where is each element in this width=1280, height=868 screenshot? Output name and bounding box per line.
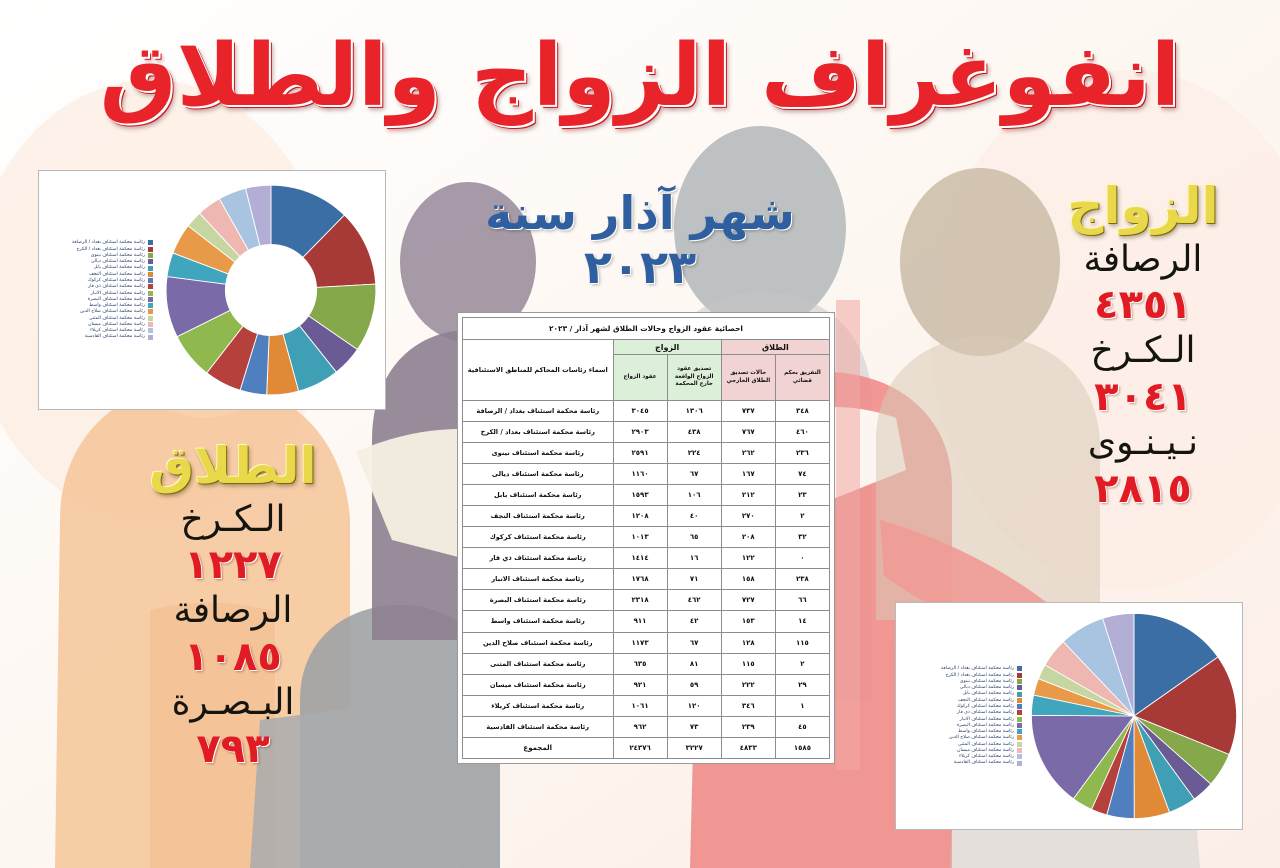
- divorce-label-2: البـصـرة: [118, 681, 348, 725]
- legend-swatch-14: [148, 328, 153, 333]
- legend-item: رئاسة محكمة استئناف بغداد / الكرخ: [898, 673, 1022, 678]
- legend-item: رئاسة محكمة استئناف بغداد / الرصافة: [898, 666, 1022, 671]
- marriage-stats-block: الزواج الرصافة ٤٣٥١ الـكـرخ ٣٠٤١ نـيـنـو…: [1028, 178, 1258, 513]
- cell-marriage-contracts-14: ١٠٦١: [613, 695, 667, 716]
- marriage-value-0: ٤٣٥١: [1028, 281, 1258, 329]
- divorce-value-1: ١٠٨٥: [118, 633, 348, 681]
- legend-label-14: رئاسة محكمة استئناف كربلاء: [959, 754, 1014, 759]
- legend-swatch-3: [148, 259, 153, 264]
- legend-item: رئاسة محكمة استئناف البصرة: [41, 297, 153, 302]
- legend-label-15: رئاسة محكمة استئناف القادسية: [954, 760, 1014, 765]
- legend-label-12: رئاسة محكمة استئناف المثنى: [958, 742, 1014, 747]
- column-header-court-name: اسماء رئاسات المحاكم للمناطق الاستئنافية: [463, 340, 614, 401]
- legend-swatch-2: [148, 253, 153, 258]
- cell-court-name-12: رئاسة محكمة استئناف المثنى: [463, 653, 614, 674]
- legend-swatch-9: [1017, 723, 1022, 728]
- total-divorce-judicial: ١٥٨٥: [775, 737, 829, 758]
- marriage-value-1: ٣٠٤١: [1028, 373, 1258, 421]
- legend-item: رئاسة محكمة استئناف صلاح الدين: [898, 735, 1022, 740]
- cell-divorce-external-10: ١٥٣: [721, 611, 775, 632]
- cell-marriage-outside-6: ٦٥: [667, 527, 721, 548]
- legend-item: رئاسة محكمة استئناف ميسان: [898, 748, 1022, 753]
- legend-item: رئاسة محكمة استئناف الانبار: [898, 717, 1022, 722]
- legend-label-6: رئاسة محكمة استئناف كركوك: [957, 704, 1014, 709]
- legend-label-5: رئاسة محكمة استئناف النجف: [89, 272, 145, 277]
- pie-chart-svg: [1026, 608, 1242, 824]
- legend-swatch-4: [1017, 692, 1022, 697]
- legend-swatch-5: [1017, 698, 1022, 703]
- table-row: ٧٤١٦٧٦٧١١٦٠رئاسة محكمة استئناف ديالى: [463, 464, 830, 485]
- total-divorce-external: ٤٨٣٣: [721, 737, 775, 758]
- table-row: ٢٣٢١٢١٠٦١٥٩٣رئاسة محكمة استئناف بابل: [463, 485, 830, 506]
- total-label: المجموع: [463, 737, 614, 758]
- divorce-label-1: الرصافة: [118, 589, 348, 633]
- cell-court-name-11: رئاسة محكمة استئناف صلاح الدين: [463, 632, 614, 653]
- pie-chart-art: [1026, 608, 1242, 824]
- legend-item: رئاسة محكمة استئناف النجف: [41, 272, 153, 277]
- table-title: احصائية عقود الزواج وحالات الطلاق لشهر آ…: [463, 318, 830, 340]
- legend-label-10: رئاسة محكمة استئناف واسط: [958, 729, 1014, 734]
- legend-label-5: رئاسة محكمة استئناف النجف: [958, 698, 1014, 703]
- cell-court-name-13: رئاسة محكمة استئناف ميسان: [463, 674, 614, 695]
- legend-item: رئاسة محكمة استئناف البصرة: [898, 723, 1022, 728]
- cell-marriage-outside-11: ٦٧: [667, 632, 721, 653]
- column-header-marriage-outside: تصديق عقود الزواج الواقعة خارج المحكمة: [667, 355, 721, 401]
- cell-divorce-judicial-5: ٢: [775, 506, 829, 527]
- table-row: ٤٥٢٣٩٧٣٩٦٢رئاسة محكمة استئناف القادسية: [463, 716, 830, 737]
- cell-divorce-judicial-7: ٠: [775, 548, 829, 569]
- legend-swatch-7: [148, 284, 153, 289]
- total-marriage-contracts: ٢٤٣٧٦: [613, 737, 667, 758]
- pie-chart-legend: رئاسة محكمة استئناف بغداد / الرصافةرئاسة…: [896, 603, 1026, 829]
- legend-item: رئاسة محكمة استئناف كركوك: [898, 704, 1022, 709]
- legend-swatch-0: [148, 240, 153, 245]
- legend-item: رئاسة محكمة استئناف كربلاء: [41, 328, 153, 333]
- legend-label-7: رئاسة محكمة استئناف ذي قار: [88, 284, 145, 289]
- cell-divorce-judicial-9: ٦٦: [775, 590, 829, 611]
- legend-label-8: رئاسة محكمة استئناف الانبار: [960, 717, 1014, 722]
- divorce-entry-2: البـصـرة ٧٩٣: [118, 681, 348, 773]
- divorce-value-2: ٧٩٣: [118, 725, 348, 773]
- infographic-poster: انفوغراف الزواج والطلاق شهر آذار سنة ٢٠٢…: [0, 0, 1280, 868]
- cell-marriage-contracts-12: ٦٣٥: [613, 653, 667, 674]
- legend-swatch-4: [148, 266, 153, 271]
- legend-label-14: رئاسة محكمة استئناف كربلاء: [90, 328, 145, 333]
- cell-divorce-external-4: ٢١٢: [721, 485, 775, 506]
- table-row: ٢٢٧٠٤٠١٢٠٨رئاسة محكمة استئناف النجف: [463, 506, 830, 527]
- legend-item: رئاسة محكمة استئناف النجف: [898, 698, 1022, 703]
- legend-label-7: رئاسة محكمة استئناف ذي قار: [957, 710, 1014, 715]
- legend-swatch-10: [148, 303, 153, 308]
- cell-court-name-15: رئاسة محكمة استئناف القادسية: [463, 716, 614, 737]
- divorce-heading: الطلاق: [118, 438, 348, 496]
- cell-marriage-contracts-10: ٩١١: [613, 611, 667, 632]
- cell-divorce-external-8: ١٥٨: [721, 569, 775, 590]
- cell-marriage-outside-10: ٤٢: [667, 611, 721, 632]
- cell-divorce-judicial-15: ٤٥: [775, 716, 829, 737]
- legend-label-2: رئاسة محكمة استئناف نينوى: [960, 679, 1014, 684]
- table-row: ١٤١٥٣٤٢٩١١رئاسة محكمة استئناف واسط: [463, 611, 830, 632]
- legend-swatch-2: [1017, 679, 1022, 684]
- legend-swatch-10: [1017, 729, 1022, 734]
- cell-divorce-external-0: ٧٣٧: [721, 401, 775, 422]
- legend-item: رئاسة محكمة استئناف بغداد / الرصافة: [41, 240, 153, 245]
- cell-court-name-9: رئاسة محكمة استئناف البصرة: [463, 590, 614, 611]
- table-head: احصائية عقود الزواج وحالات الطلاق لشهر آ…: [463, 318, 830, 401]
- legend-swatch-12: [148, 316, 153, 321]
- legend-item: رئاسة محكمة استئناف ذي قار: [41, 284, 153, 289]
- cell-marriage-contracts-6: ١٠١٣: [613, 527, 667, 548]
- table-row: ١١٥١٢٨٦٧١١٧٣رئاسة محكمة استئناف صلاح الد…: [463, 632, 830, 653]
- legend-label-9: رئاسة محكمة استئناف البصرة: [957, 723, 1014, 728]
- marriage-entry-2: نـيـنـوى ٢٨١٥: [1028, 421, 1258, 513]
- divorce-stats-block: الطلاق الـكـرخ ١٢٢٧ الرصافة ١٠٨٥ البـصـر…: [118, 438, 348, 773]
- table-body: ٣٤٨٧٣٧١٣٠٦٣٠٤٥رئاسة محكمة استئناف بغداد …: [463, 401, 830, 759]
- legend-label-8: رئاسة محكمة استئناف الانبار: [91, 291, 145, 296]
- legend-swatch-3: [1017, 685, 1022, 690]
- legend-swatch-6: [148, 278, 153, 283]
- cell-divorce-external-5: ٢٧٠: [721, 506, 775, 527]
- legend-swatch-5: [148, 272, 153, 277]
- cell-marriage-outside-15: ٧٣: [667, 716, 721, 737]
- cell-divorce-external-2: ٢٦٢: [721, 443, 775, 464]
- cell-court-name-2: رئاسة محكمة استئناف نينوى: [463, 443, 614, 464]
- cell-divorce-judicial-13: ٢٩: [775, 674, 829, 695]
- cell-court-name-4: رئاسة محكمة استئناف بابل: [463, 485, 614, 506]
- table-row: ٠١٢٢١٦١٤١٤رئاسة محكمة استئناف ذي قار: [463, 548, 830, 569]
- legend-item: رئاسة محكمة استئناف بابل: [41, 265, 153, 270]
- table-row: ٢٩٢٢٢٥٩٩٢١رئاسة محكمة استئناف ميسان: [463, 674, 830, 695]
- legend-label-13: رئاسة محكمة استئناف ميسان: [957, 748, 1014, 753]
- cell-divorce-judicial-14: ١: [775, 695, 829, 716]
- cell-marriage-outside-9: ٤٦٢: [667, 590, 721, 611]
- legend-item: رئاسة محكمة استئناف ميسان: [41, 322, 153, 327]
- cell-divorce-judicial-12: ٢: [775, 653, 829, 674]
- divorce-entry-0: الـكـرخ ١٢٢٧: [118, 498, 348, 590]
- cell-divorce-external-11: ١٢٨: [721, 632, 775, 653]
- legend-label-6: رئاسة محكمة استئناف كركوك: [88, 278, 145, 283]
- cell-divorce-external-7: ١٢٢: [721, 548, 775, 569]
- legend-swatch-0: [1017, 666, 1022, 671]
- divorce-entry-1: الرصافة ١٠٨٥: [118, 589, 348, 681]
- cell-divorce-external-14: ٣٤٦: [721, 695, 775, 716]
- cell-marriage-contracts-2: ٢٥٩١: [613, 443, 667, 464]
- legend-item: رئاسة محكمة استئناف كركوك: [41, 278, 153, 283]
- cell-divorce-external-15: ٢٣٩: [721, 716, 775, 737]
- legend-label-9: رئاسة محكمة استئناف البصرة: [88, 297, 145, 302]
- marriage-heading: الزواج: [1028, 178, 1258, 236]
- cell-marriage-contracts-11: ١١٧٣: [613, 632, 667, 653]
- statistics-table: احصائية عقود الزواج وحالات الطلاق لشهر آ…: [462, 317, 830, 759]
- legend-item: رئاسة محكمة استئناف القادسية: [41, 334, 153, 339]
- legend-item: رئاسة محكمة استئناف ديالى: [898, 685, 1022, 690]
- table-row: ٣٢٢٠٨٦٥١٠١٣رئاسة محكمة استئناف كركوك: [463, 527, 830, 548]
- legend-label-0: رئاسة محكمة استئناف بغداد / الرصافة: [72, 240, 145, 245]
- legend-swatch-11: [148, 309, 153, 314]
- statistics-table-container: احصائية عقود الزواج وحالات الطلاق لشهر آ…: [457, 312, 835, 764]
- legend-item: رئاسة محكمة استئناف ذي قار: [898, 710, 1022, 715]
- table-row: ٢١١٥٨١٦٣٥رئاسة محكمة استئناف المثنى: [463, 653, 830, 674]
- legend-swatch-7: [1017, 710, 1022, 715]
- cell-divorce-external-13: ٢٢٢: [721, 674, 775, 695]
- cell-marriage-outside-0: ١٣٠٦: [667, 401, 721, 422]
- cell-divorce-external-12: ١١٥: [721, 653, 775, 674]
- cell-marriage-outside-2: ٢٢٤: [667, 443, 721, 464]
- legend-item: رئاسة محكمة استئناف صلاح الدين: [41, 309, 153, 314]
- table-row: ٢٣٨١٥٨٧١١٧٦٨رئاسة محكمة استئناف الانبار: [463, 569, 830, 590]
- donut-chart-legend: رئاسة محكمة استئناف بغداد / الرصافةرئاسة…: [39, 171, 157, 409]
- cell-court-name-0: رئاسة محكمة استئناف بغداد / الرصافة: [463, 401, 614, 422]
- legend-swatch-1: [1017, 673, 1022, 678]
- table-row: ٦٦٧٢٧٤٦٢٢٣١٨رئاسة محكمة استئناف البصرة: [463, 590, 830, 611]
- table-row: ٣٤٨٧٣٧١٣٠٦٣٠٤٥رئاسة محكمة استئناف بغداد …: [463, 401, 830, 422]
- cell-court-name-7: رئاسة محكمة استئناف ذي قار: [463, 548, 614, 569]
- column-header-marriage-contracts: عقود الزواج: [613, 355, 667, 401]
- cell-marriage-contracts-9: ٢٣١٨: [613, 590, 667, 611]
- cell-marriage-contracts-5: ١٢٠٨: [613, 506, 667, 527]
- legend-label-11: رئاسة محكمة استئناف صلاح الدين: [949, 735, 1014, 740]
- cell-divorce-external-9: ٧٢٧: [721, 590, 775, 611]
- legend-item: رئاسة محكمة استئناف بغداد / الكرخ: [41, 247, 153, 252]
- legend-item: رئاسة محكمة استئناف الانبار: [41, 291, 153, 296]
- group-header-divorce: الطلاق: [721, 340, 829, 355]
- legend-item: رئاسة محكمة استئناف كربلاء: [898, 754, 1022, 759]
- legend-swatch-13: [148, 322, 153, 327]
- divorce-label-0: الـكـرخ: [118, 498, 348, 542]
- cell-court-name-6: رئاسة محكمة استئناف كركوك: [463, 527, 614, 548]
- legend-swatch-14: [1017, 754, 1022, 759]
- legend-item: رئاسة محكمة استئناف ديالى: [41, 259, 153, 264]
- column-header-divorce-judicial: التفريق بحكم قضائي: [775, 355, 829, 401]
- legend-label-4: رئاسة محكمة استئناف بابل: [93, 265, 145, 270]
- legend-item: رئاسة محكمة استئناف واسط: [898, 729, 1022, 734]
- legend-label-15: رئاسة محكمة استئناف القادسية: [85, 334, 145, 339]
- cell-marriage-contracts-13: ٩٢١: [613, 674, 667, 695]
- cell-divorce-judicial-1: ٤٦٠: [775, 422, 829, 443]
- cell-divorce-external-1: ٧٦٧: [721, 422, 775, 443]
- legend-swatch-9: [148, 297, 153, 302]
- legend-item: رئاسة محكمة استئناف واسط: [41, 303, 153, 308]
- cell-divorce-judicial-4: ٢٣: [775, 485, 829, 506]
- cell-court-name-5: رئاسة محكمة استئناف النجف: [463, 506, 614, 527]
- column-header-divorce-external: حالات تصديق الطلاق الخارجي: [721, 355, 775, 401]
- cell-marriage-outside-4: ١٠٦: [667, 485, 721, 506]
- table-row: ٢٣٦٢٦٢٢٢٤٢٥٩١رئاسة محكمة استئناف نينوى: [463, 443, 830, 464]
- donut-chart-panel: رئاسة محكمة استئناف بغداد / الرصافةرئاسة…: [38, 170, 386, 410]
- cell-marriage-outside-14: ١٢٠: [667, 695, 721, 716]
- legend-label-0: رئاسة محكمة استئناف بغداد / الرصافة: [941, 666, 1014, 671]
- cell-divorce-external-3: ١٦٧: [721, 464, 775, 485]
- cell-marriage-contracts-3: ١١٦٠: [613, 464, 667, 485]
- cell-marriage-outside-12: ٨١: [667, 653, 721, 674]
- marriage-entry-0: الرصافة ٤٣٥١: [1028, 238, 1258, 330]
- cell-divorce-judicial-11: ١١٥: [775, 632, 829, 653]
- legend-item: رئاسة محكمة استئناف القادسية: [898, 760, 1022, 765]
- cell-marriage-contracts-4: ١٥٩٣: [613, 485, 667, 506]
- divorce-value-0: ١٢٢٧: [118, 541, 348, 589]
- legend-swatch-8: [1017, 717, 1022, 722]
- legend-label-13: رئاسة محكمة استئناف ميسان: [88, 322, 145, 327]
- group-header-marriage: الزواج: [613, 340, 721, 355]
- cell-marriage-contracts-8: ١٧٦٨: [613, 569, 667, 590]
- legend-swatch-12: [1017, 742, 1022, 747]
- cell-court-name-8: رئاسة محكمة استئناف الانبار: [463, 569, 614, 590]
- legend-label-11: رئاسة محكمة استئناف صلاح الدين: [80, 309, 145, 314]
- legend-label-10: رئاسة محكمة استئناف واسط: [89, 303, 145, 308]
- donut-chart-art: [157, 176, 385, 404]
- legend-swatch-15: [148, 335, 153, 340]
- cell-divorce-judicial-2: ٢٣٦: [775, 443, 829, 464]
- cell-marriage-outside-5: ٤٠: [667, 506, 721, 527]
- legend-swatch-11: [1017, 735, 1022, 740]
- legend-swatch-13: [1017, 748, 1022, 753]
- legend-label-2: رئاسة محكمة استئناف نينوى: [91, 253, 145, 258]
- legend-label-12: رئاسة محكمة استئناف المثنى: [89, 316, 145, 321]
- legend-item: رئاسة محكمة استئناف بابل: [898, 691, 1022, 696]
- page-subtitle: شهر آذار سنة ٢٠٢٣: [430, 186, 850, 294]
- cell-divorce-judicial-8: ٢٣٨: [775, 569, 829, 590]
- cell-court-name-10: رئاسة محكمة استئناف واسط: [463, 611, 614, 632]
- total-marriage-outside: ٣٢٢٧: [667, 737, 721, 758]
- table-group-header-row: الطلاق الزواج اسماء رئاسات المحاكم للمنا…: [463, 340, 830, 355]
- cell-marriage-contracts-7: ١٤١٤: [613, 548, 667, 569]
- cell-marriage-outside-7: ١٦: [667, 548, 721, 569]
- page-title: انفوغراف الزواج والطلاق: [0, 28, 1280, 124]
- title-container: انفوغراف الزواج والطلاق: [0, 28, 1280, 124]
- marriage-entry-1: الـكـرخ ٣٠٤١: [1028, 329, 1258, 421]
- legend-item: رئاسة محكمة استئناف المثنى: [898, 742, 1022, 747]
- cell-marriage-contracts-1: ٢٩٠٣: [613, 422, 667, 443]
- table-total-row: ١٥٨٥٤٨٣٣٣٢٢٧٢٤٣٧٦المجموع: [463, 737, 830, 758]
- legend-label-4: رئاسة محكمة استئناف بابل: [962, 691, 1014, 696]
- legend-swatch-8: [148, 291, 153, 296]
- cell-divorce-judicial-6: ٣٢: [775, 527, 829, 548]
- table-title-row: احصائية عقود الزواج وحالات الطلاق لشهر آ…: [463, 318, 830, 340]
- marriage-label-0: الرصافة: [1028, 238, 1258, 282]
- cell-marriage-contracts-15: ٩٦٢: [613, 716, 667, 737]
- cell-divorce-judicial-0: ٣٤٨: [775, 401, 829, 422]
- cell-marriage-outside-1: ٤٣٨: [667, 422, 721, 443]
- pie-chart-panel: رئاسة محكمة استئناف بغداد / الرصافةرئاسة…: [895, 602, 1243, 830]
- legend-swatch-1: [148, 247, 153, 252]
- legend-label-3: رئاسة محكمة استئناف ديالى: [960, 685, 1014, 690]
- donut-chart-svg: [157, 176, 385, 404]
- marriage-label-2: نـيـنـوى: [1028, 421, 1258, 465]
- legend-swatch-6: [1017, 704, 1022, 709]
- cell-divorce-judicial-10: ١٤: [775, 611, 829, 632]
- legend-item: رئاسة محكمة استئناف المثنى: [41, 316, 153, 321]
- legend-label-1: رئاسة محكمة استئناف بغداد / الكرخ: [945, 673, 1014, 678]
- legend-item: رئاسة محكمة استئناف نينوى: [898, 679, 1022, 684]
- legend-label-1: رئاسة محكمة استئناف بغداد / الكرخ: [76, 247, 145, 252]
- cell-divorce-external-6: ٢٠٨: [721, 527, 775, 548]
- cell-marriage-outside-13: ٥٩: [667, 674, 721, 695]
- marriage-label-1: الـكـرخ: [1028, 329, 1258, 373]
- marriage-value-2: ٢٨١٥: [1028, 465, 1258, 513]
- table-row: ٤٦٠٧٦٧٤٣٨٢٩٠٣رئاسة محكمة استئناف بغداد /…: [463, 422, 830, 443]
- legend-item: رئاسة محكمة استئناف نينوى: [41, 253, 153, 258]
- cell-court-name-14: رئاسة محكمة استئناف كربلاء: [463, 695, 614, 716]
- cell-divorce-judicial-3: ٧٤: [775, 464, 829, 485]
- cell-court-name-3: رئاسة محكمة استئناف ديالى: [463, 464, 614, 485]
- cell-marriage-outside-3: ٦٧: [667, 464, 721, 485]
- legend-label-3: رئاسة محكمة استئناف ديالى: [91, 259, 145, 264]
- cell-marriage-contracts-0: ٣٠٤٥: [613, 401, 667, 422]
- legend-swatch-15: [1017, 761, 1022, 766]
- table-row: ١٣٤٦١٢٠١٠٦١رئاسة محكمة استئناف كربلاء: [463, 695, 830, 716]
- cell-marriage-outside-8: ٧١: [667, 569, 721, 590]
- cell-court-name-1: رئاسة محكمة استئناف بغداد / الكرخ: [463, 422, 614, 443]
